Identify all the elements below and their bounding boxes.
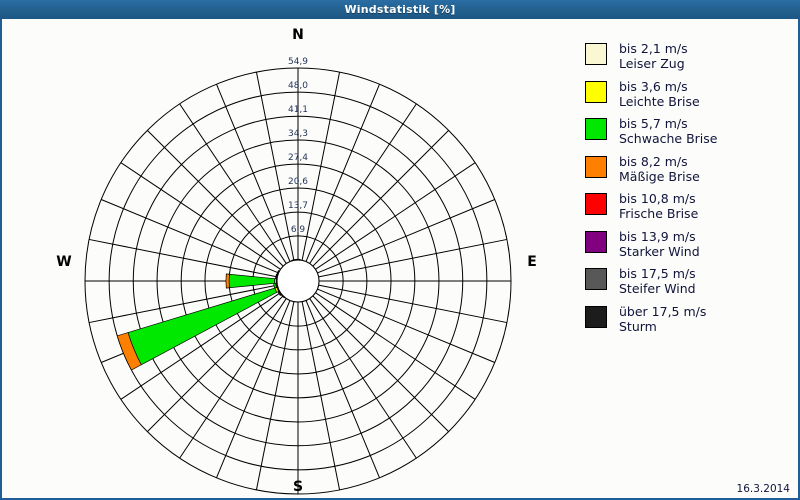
legend-beaufort-name: Starker Wind	[619, 244, 700, 259]
polar-center-hub	[277, 260, 319, 302]
chart-canvas: 6,913,720,627,434,341,148,054,9 N S W E …	[2, 19, 798, 498]
compass-label-east: E	[502, 255, 562, 269]
legend-label: bis 13,9 m/sStarker Wind	[619, 229, 700, 260]
legend-item[interactable]: bis 10,8 m/sFrische Brise	[585, 191, 790, 222]
legend-label: bis 10,8 m/sFrische Brise	[619, 191, 698, 222]
window-title-bar: Windstatistik [%]	[0, 0, 800, 19]
legend-item[interactable]: über 17,5 m/sSturm	[585, 304, 790, 335]
legend-speed-range: bis 8,2 m/s	[619, 154, 700, 169]
radial-tick-label: 27,4	[275, 154, 321, 163]
radial-tick-label: 48,0	[275, 82, 321, 91]
legend-label: bis 8,2 m/sMäßige Brise	[619, 154, 700, 185]
compass-label-west: W	[34, 255, 94, 269]
radial-tick-label: 34,3	[275, 130, 321, 139]
legend-color-swatch	[585, 231, 607, 253]
legend-label: über 17,5 m/sSturm	[619, 304, 706, 335]
legend-color-swatch	[585, 156, 607, 178]
legend-color-swatch	[585, 193, 607, 215]
legend-speed-range: bis 2,1 m/s	[619, 41, 688, 56]
legend-item[interactable]: bis 3,6 m/sLeichte Brise	[585, 79, 790, 110]
compass-label-north: N	[268, 28, 328, 42]
legend-item[interactable]: bis 2,1 m/sLeiser Zug	[585, 41, 790, 72]
legend-item[interactable]: bis 17,5 m/sSteifer Wind	[585, 266, 790, 297]
legend-item[interactable]: bis 8,2 m/sMäßige Brise	[585, 154, 790, 185]
app-window: Windstatistik [%] 6,913,720,627,434,341,…	[0, 0, 800, 500]
legend-label: bis 3,6 m/sLeichte Brise	[619, 79, 700, 110]
legend-speed-range: bis 10,8 m/s	[619, 191, 698, 206]
legend-beaufort-name: Steifer Wind	[619, 281, 696, 296]
legend-beaufort-name: Leichte Brise	[619, 94, 700, 109]
legend-item[interactable]: bis 5,7 m/sSchwache Brise	[585, 116, 790, 147]
radial-tick-label: 41,1	[275, 106, 321, 115]
legend-label: bis 2,1 m/sLeiser Zug	[619, 41, 688, 72]
footer-date: 16.3.2014	[737, 483, 790, 495]
legend-label: bis 5,7 m/sSchwache Brise	[619, 116, 717, 147]
legend-beaufort-name: Frische Brise	[619, 206, 698, 221]
legend-color-swatch	[585, 306, 607, 328]
legend: bis 2,1 m/sLeiser Zugbis 3,6 m/sLeichte …	[585, 41, 790, 341]
legend-speed-range: über 17,5 m/s	[619, 304, 706, 319]
legend-speed-range: bis 17,5 m/s	[619, 266, 696, 281]
legend-speed-range: bis 3,6 m/s	[619, 79, 700, 94]
legend-color-swatch	[585, 118, 607, 140]
legend-color-swatch	[585, 268, 607, 290]
legend-color-swatch	[585, 81, 607, 103]
legend-beaufort-name: Mäßige Brise	[619, 169, 700, 184]
radial-tick-label: 6,9	[275, 226, 321, 235]
legend-beaufort-name: Sturm	[619, 319, 706, 334]
legend-beaufort-name: Schwache Brise	[619, 131, 717, 146]
legend-speed-range: bis 13,9 m/s	[619, 229, 700, 244]
legend-item[interactable]: bis 13,9 m/sStarker Wind	[585, 229, 790, 260]
legend-beaufort-name: Leiser Zug	[619, 56, 688, 71]
radial-tick-label: 54,9	[275, 58, 321, 67]
radial-tick-label: 13,7	[275, 202, 321, 211]
legend-label: bis 17,5 m/sSteifer Wind	[619, 266, 696, 297]
legend-color-swatch	[585, 43, 607, 65]
compass-label-south: S	[268, 480, 328, 494]
window-title: Windstatistik [%]	[344, 3, 455, 16]
radial-tick-label: 20,6	[275, 178, 321, 187]
legend-speed-range: bis 5,7 m/s	[619, 116, 717, 131]
